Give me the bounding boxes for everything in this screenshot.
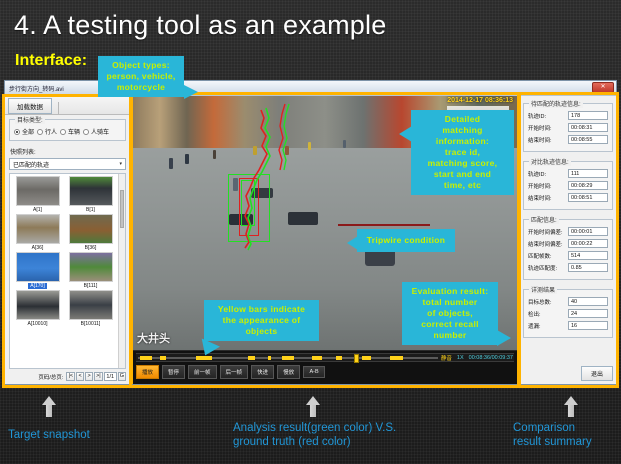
result-field-value[interactable]: 00:00:22 [568,239,608,248]
load-data-button[interactable]: 加载数据 [8,98,52,114]
result-field-row: 轨迹ID:178 [528,111,608,120]
snapshot-list-label: 快照列表: [10,147,130,156]
callout-matching-info: Detailed matching information: trace id,… [411,110,514,195]
result-field-row: 开始时间偏差:00:00:01 [528,227,608,236]
pagination-page-input[interactable]: 1/1 [104,372,117,381]
pedestrian [253,146,257,155]
snapshot-thumbnail[interactable] [69,252,113,282]
result-field-row: 目标总数:40 [528,297,608,306]
legend-comparison-summary: Comparison result summary [513,421,592,449]
result-field-row: 结束时间:00:08:55 [528,135,608,144]
appearance-bar [248,356,255,360]
result-field-value[interactable]: 111 [568,169,608,178]
pedestrian [185,154,189,164]
exit-row: 退出 [523,366,613,381]
player-button-0[interactable]: 播放 [136,365,159,379]
snapshot-thumbnail[interactable] [16,214,60,244]
radio-icon[interactable] [83,129,89,135]
result-field-label: 目标总数: [528,298,568,306]
playback-speed-label[interactable]: 1X [457,355,464,361]
legend-analysis-result: Analysis result(green color) V.S. ground… [233,421,396,449]
pagination-last-button[interactable]: >| [94,372,103,381]
snapshot-caption: B[111] [84,283,98,289]
pagination-next-button[interactable]: > [85,372,93,381]
chevron-down-icon: ▾ [119,161,122,167]
snapshot-item[interactable]: B[1] [65,176,116,213]
pagination-prev-button[interactable]: < [76,372,84,381]
radio-icon[interactable] [14,129,20,135]
result-field-row: 结束时间:00:08:51 [528,193,608,202]
object-type-radio-row: 全部行人车辆人骑车 [14,127,121,136]
snapshot-caption: A[36] [32,245,44,251]
appearance-bar [336,356,342,360]
appearance-bar [282,356,294,360]
result-field-label: 轨迹ID: [528,112,568,120]
pedestrian [285,146,289,155]
motorcycle [288,212,318,225]
result-field-value[interactable]: 00:08:29 [568,181,608,190]
callout-yellow-bars: Yellow bars indicate the appearance of o… [204,300,319,341]
timecode-label: 00:08:36/00:09:37 [469,355,513,361]
snapshot-item[interactable]: B[36] [65,214,116,251]
window-titlebar: 步行街方向_转码.avi ✕ [5,81,616,96]
snapshot-caption: A[10010] [27,321,47,327]
pagination-go-button[interactable]: G [118,372,126,381]
result-field-value[interactable]: 16 [568,321,608,330]
target-snapshot-panel: 加载数据 目标类型: 全部行人车辆人骑车 快照列表: 已匹配的轨迹 ▾ A[1]… [5,96,131,384]
timeline-playhead[interactable] [354,354,359,363]
transport-buttons: 播放暂停前一帧后一帧快进慢放A-B [136,362,514,379]
callout-evaluation-result: Evaluation result: total number of objec… [402,282,498,345]
result-field-row: 检出:24 [528,309,608,318]
snapshot-grid: A[1]B[1]A[36]B[36]A[170]B[111]A[10010]B[… [10,174,118,368]
toolbar-divider [58,102,59,114]
snapshot-item[interactable]: A[36] [12,214,63,251]
result-field-value[interactable]: 00:00:01 [568,227,608,236]
video-watermark: 大井头 [137,330,170,346]
result-field-value[interactable]: 00:08:31 [568,123,608,132]
trace-filter-select[interactable]: 已匹配的轨迹 ▾ [9,158,126,170]
video-timestamp-overlay: 2014-12-17 08:36:13 [447,97,513,104]
result-field-row: 轨迹匹配度:0.85 [528,263,608,272]
appearance-bar [268,356,271,360]
tripwire-line [338,224,430,226]
snapshot-thumbnail[interactable] [69,176,113,206]
snapshot-item[interactable]: B[111] [65,252,116,289]
snapshot-scrollbar[interactable] [118,174,125,368]
scrollbar-handle[interactable] [120,190,124,228]
player-button-4[interactable]: 快进 [251,365,274,379]
appearance-bar [140,356,152,360]
result-field-label: 开始时间偏差: [528,228,568,236]
callout-evaluation-result-tail [497,330,511,346]
result-section-1: 对比轨迹信息:轨迹ID:111开始时间:00:08:29结束时间:00:08:5… [523,161,613,210]
window-title: 步行街方向_转码.avi [5,84,64,93]
snapshot-item[interactable]: B[10011] [65,290,116,327]
result-field-row: 开始时间:00:08:29 [528,181,608,190]
object-type-radio-3[interactable]: 人骑车 [83,127,109,136]
result-section-title: 详测结果 [529,285,557,294]
snapshot-item[interactable]: A[10010] [12,290,63,327]
video-player-controls: 静音 1X 00:08:36/00:09:37 播放暂停前一帧后一帧快进慢放A-… [133,350,517,384]
detection-box-green [241,180,255,226]
result-field-label: 轨迹匹配度: [528,264,568,272]
callout-object-types: Object types: person, vehicle, motorcycl… [98,56,184,97]
result-field-value[interactable]: 00:08:51 [568,193,608,202]
result-field-label: 开始时间: [528,182,568,190]
result-field-label: 结束时间: [528,194,568,202]
result-field-value[interactable]: 00:08:55 [568,135,608,144]
video-timeline[interactable]: 静音 1X 00:08:36/00:09:37 [136,353,514,362]
object-type-label: 车辆 [68,127,80,136]
result-field-label: 遗漏: [528,322,568,330]
snapshot-thumbnail[interactable] [16,290,60,320]
result-field-row: 匹配帧数:514 [528,251,608,260]
object-type-label: 行人 [45,127,57,136]
comparison-result-panel: 待匹配的轨迹信息:轨迹ID:178开始时间:00:08:31结束时间:00:08… [519,96,616,384]
callout-tripwire: Tripwire condition [357,229,455,252]
appearance-bar [160,356,166,360]
pedestrian [213,150,216,159]
result-section-title: 对比轨迹信息: [529,157,571,166]
result-field-label: 检出: [528,310,568,318]
snapshot-caption: B[10011] [81,321,101,327]
player-button-5[interactable]: 慢放 [277,365,300,379]
pedestrian [343,140,346,148]
result-section-title: 待匹配的轨迹信息: [529,99,583,108]
result-section-2: 匹配信息:开始时间偏差:00:00:01结束时间偏差:00:00:22匹配帧数:… [523,219,613,280]
radio-icon[interactable] [60,129,66,135]
player-button-2[interactable]: 前一帧 [188,365,217,379]
result-section-3: 详测结果目标总数:40检出:24遗漏:16 [523,289,613,338]
object-type-radio-1[interactable]: 行人 [37,127,57,136]
snapshot-item[interactable]: A[170] [12,252,63,289]
result-field-value[interactable]: 514 [568,251,608,260]
pagination-label: 页码/总页: [38,373,63,381]
callout-object-types-tail [184,85,198,99]
snapshot-caption: A[1] [33,207,42,213]
result-field-label: 结束时间: [528,136,568,144]
result-section-title: 匹配信息: [529,215,559,224]
object-type-radio-0[interactable]: 全部 [14,127,34,136]
snapshot-thumbnail[interactable] [16,252,60,282]
result-field-row: 开始时间:00:08:31 [528,123,608,132]
toolbar: 加载数据 [5,96,130,115]
result-field-label: 轨迹ID: [528,170,568,178]
pedestrian [169,158,173,169]
close-icon[interactable]: ✕ [592,82,614,93]
result-field-value[interactable]: 178 [568,111,608,120]
exit-button[interactable]: 退出 [581,366,613,381]
snapshot-grid-scroller: A[1]B[1]A[36]B[36]A[170]B[111]A[10010]B[… [9,173,126,369]
snapshot-thumbnail[interactable] [69,214,113,244]
legend-target-snapshot: Target snapshot [8,428,90,442]
callout-matching-info-tail [399,126,412,142]
object-type-radio-2[interactable]: 车辆 [60,127,80,136]
object-type-group: 目标类型: 全部行人车辆人骑车 [9,119,126,141]
result-field-value[interactable]: 40 [568,297,608,306]
result-field-label: 结束时间偏差: [528,240,568,248]
snapshot-item[interactable]: A[1] [12,176,63,213]
page-title: 4. A testing tool as an example [14,10,386,41]
result-field-row: 结束时间偏差:00:00:22 [528,239,608,248]
pedestrian [308,142,311,150]
result-field-label: 开始时间: [528,124,568,132]
result-field-value[interactable]: 0.85 [568,263,608,272]
appearance-bar [312,356,322,360]
object-type-group-title: 目标类型: [15,115,45,124]
result-field-value[interactable]: 24 [568,309,608,318]
snapshot-thumbnail[interactable] [16,176,60,206]
callout-tripwire-tail [347,236,358,250]
interface-label: Interface: [15,52,87,70]
result-field-row: 轨迹ID:111 [528,169,608,178]
pagination-first-button[interactable]: |< [66,372,75,381]
object-type-label: 人骑车 [91,127,109,136]
object-type-label: 全部 [22,127,34,136]
snapshot-caption: B[1] [86,207,95,213]
player-button-3[interactable]: 后一帧 [220,365,249,379]
snapshot-caption: A[170] [28,283,46,289]
snapshot-caption: B[36] [85,245,97,251]
timeline-meta: 静音 1X 00:08:36/00:09:37 [441,354,513,362]
result-field-row: 遗漏:16 [528,321,608,330]
radio-icon[interactable] [37,129,43,135]
mute-button[interactable]: 静音 [441,354,452,362]
snapshot-thumbnail[interactable] [69,290,113,320]
pagination: 页码/总页: |< < > >| 1/1 G [5,369,130,384]
appearance-bar [362,356,371,360]
result-section-0: 待匹配的轨迹信息:轨迹ID:178开始时间:00:08:31结束时间:00:08… [523,103,613,152]
result-field-label: 匹配帧数: [528,252,568,260]
player-button-1[interactable]: 暂停 [162,365,185,379]
trace-filter-value: 已匹配的轨迹 [13,160,49,169]
player-button-6[interactable]: A-B [303,366,325,378]
appearance-bar [390,356,403,360]
